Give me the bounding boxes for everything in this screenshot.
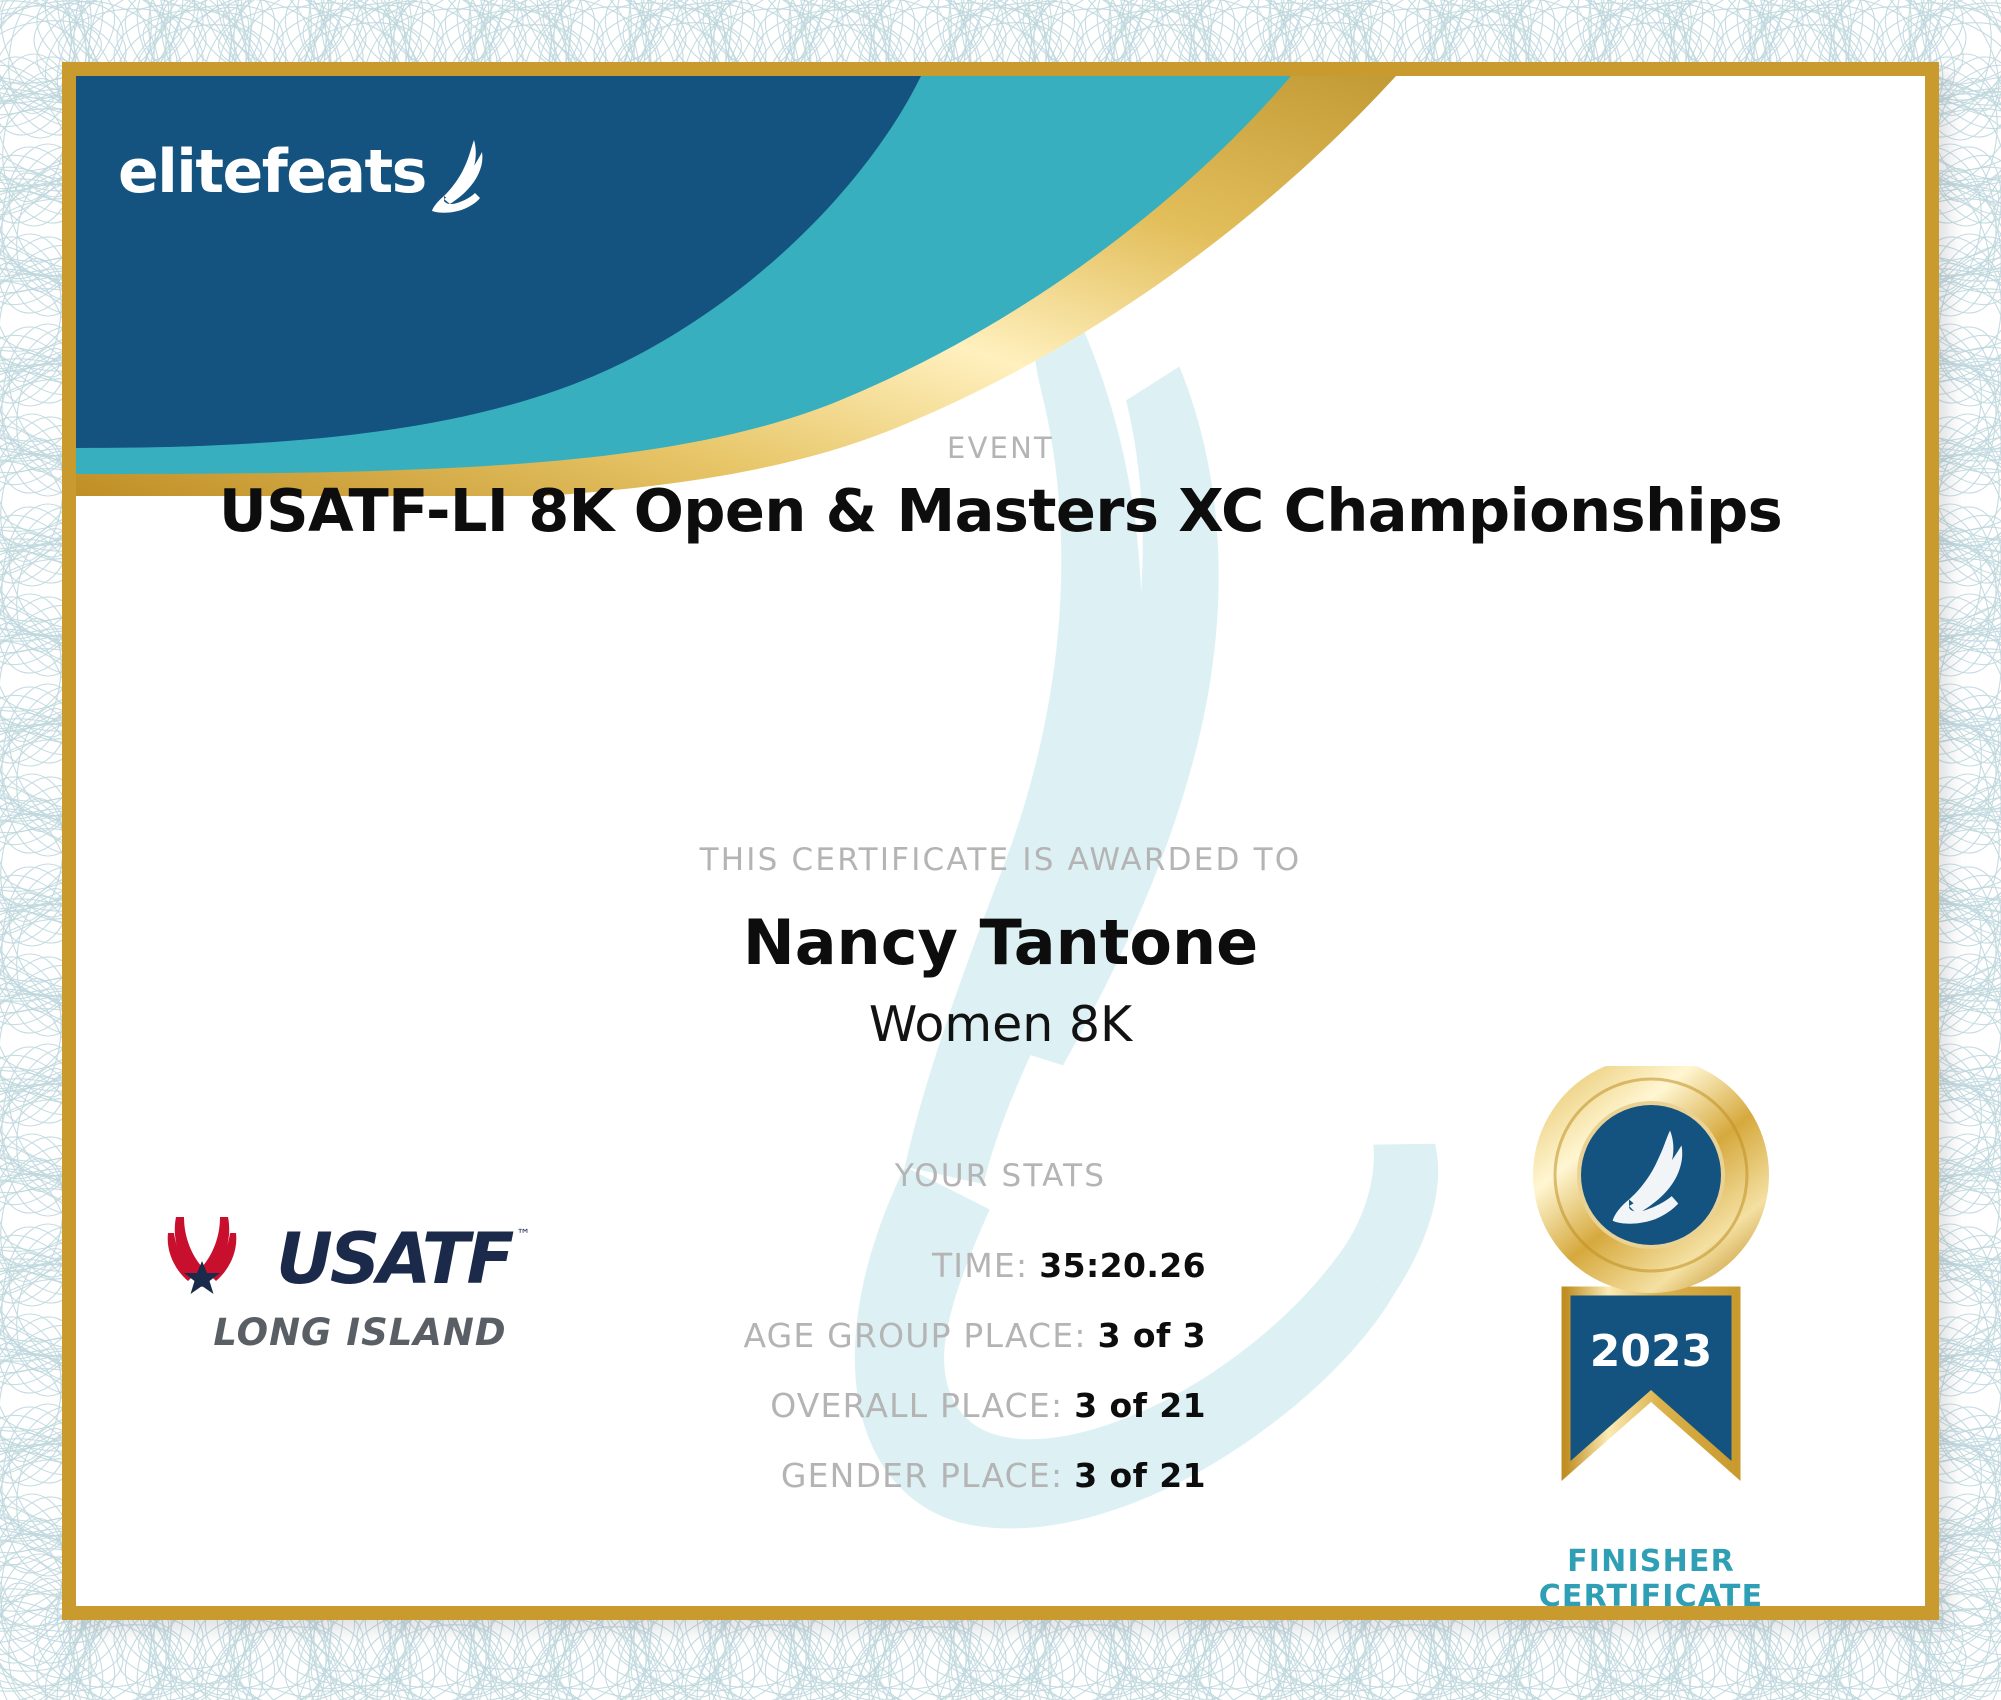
certificate-sheet: elitefeats EVENT USATF-LI 8K Open & Mast… (62, 62, 1939, 1620)
usatf-association-name: LONG ISLAND (204, 1311, 516, 1354)
awarded-to-label: THIS CERTIFICATE IS AWARDED TO (76, 842, 1925, 878)
usatf-long-island-logo: USATF™ LONG ISLAND (166, 1211, 516, 1354)
certificate-body: EVENT USATF-LI 8K Open & Masters XC Cham… (76, 76, 1925, 1606)
badge-caption: FINISHER CERTIFICATE (1496, 1544, 1806, 1615)
finisher-medal-badge: 2023 FINISHER CERTIFICATE (1496, 1066, 1806, 1615)
stat-value: 35:20.26 (1039, 1246, 1206, 1285)
event-title: USATF-LI 8K Open & Masters XC Championsh… (76, 476, 1925, 545)
stat-row-overall-place: OVERALL PLACE: 3 of 21 (376, 1386, 1206, 1425)
stat-value: 3 of 3 (1098, 1316, 1206, 1355)
usatf-wordmark: USATF™ (276, 1224, 511, 1294)
badge-caption-line1: FINISHER (1496, 1544, 1806, 1579)
event-kicker-label: EVENT (76, 431, 1925, 465)
gold-medal-winged-foot-icon: 2023 (1496, 1066, 1806, 1536)
usatf-wordmark-text: USATF (276, 1218, 511, 1300)
stat-value: 3 of 21 (1074, 1386, 1206, 1425)
division-label: Women 8K (76, 996, 1925, 1053)
stat-label: OVERALL PLACE: (770, 1386, 1063, 1425)
usatf-trademark-symbol: ™ (516, 1228, 527, 1242)
stat-value: 3 of 21 (1074, 1456, 1206, 1495)
badge-caption-line2: CERTIFICATE (1496, 1579, 1806, 1614)
badge-year-text: 2023 (1590, 1326, 1712, 1377)
recipient-name: Nancy Tantone (76, 906, 1925, 979)
stat-label: GENDER PLACE: (781, 1456, 1063, 1495)
stat-label: AGE GROUP PLACE: (743, 1316, 1086, 1355)
usatf-winged-star-icon (166, 1211, 270, 1307)
stat-label: TIME: (932, 1246, 1028, 1285)
stat-row-gender-place: GENDER PLACE: 3 of 21 (376, 1456, 1206, 1495)
